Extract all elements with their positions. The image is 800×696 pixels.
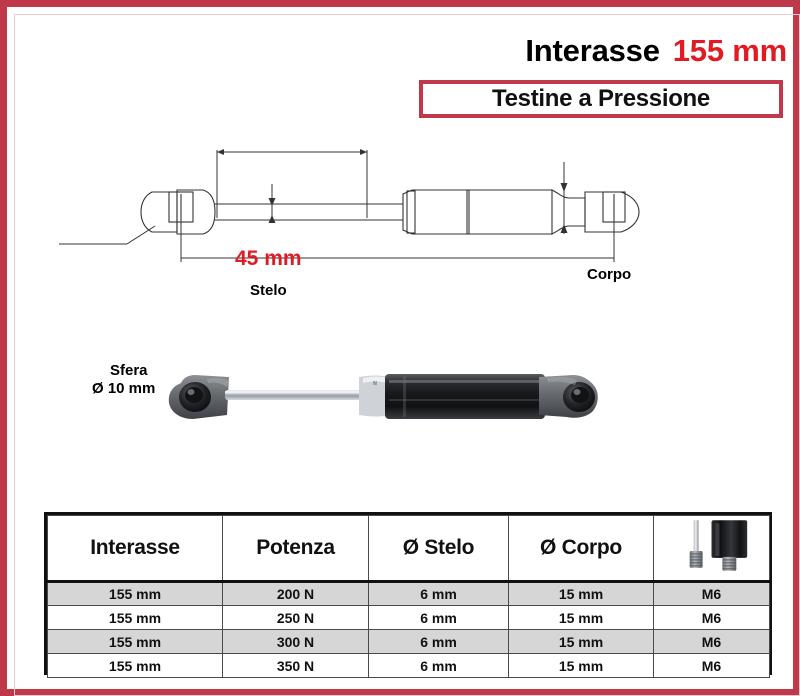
cell-diametro-corpo: 15 mm: [509, 630, 654, 654]
page-title-label: Interasse: [525, 33, 659, 69]
cell-filetto: M6: [654, 606, 770, 630]
column-header-thread-icon: [654, 516, 770, 582]
part-label-stelo: Stelo: [250, 282, 287, 299]
cell-interasse: 155 mm: [48, 582, 223, 606]
part-label-corpo: Corpo: [587, 266, 631, 283]
product-photo: N: [167, 347, 637, 442]
thread-fitting-icon: [654, 518, 769, 578]
technical-drawing: 45 mm 155 mm Stelo Corpo Sfera Ø 10 mm: [7, 122, 800, 302]
table-header-row: Interasse Potenza Ø Stelo Ø Corpo: [48, 516, 770, 582]
subtitle-text: Testine a Pressione: [492, 85, 710, 113]
specification-table: Interasse Potenza Ø Stelo Ø Corpo: [44, 512, 772, 675]
table-row: 155 mm 350 N 6 mm 15 mm M6: [48, 654, 770, 678]
part-label-sfera-diameter: Ø 10 mm: [92, 380, 155, 397]
column-header-interasse: Interasse: [48, 516, 223, 582]
cell-diametro-stelo: 6 mm: [369, 582, 509, 606]
table-body: 155 mm 200 N 6 mm 15 mm M6 155 mm 250 N …: [48, 582, 770, 678]
cell-interasse: 155 mm: [48, 606, 223, 630]
svg-text:N: N: [373, 381, 377, 387]
cell-filetto: M6: [654, 630, 770, 654]
cell-diametro-corpo: 15 mm: [509, 654, 654, 678]
cell-interasse: 155 mm: [48, 654, 223, 678]
cell-potenza: 200 N: [223, 582, 369, 606]
column-header-diametro-corpo: Ø Corpo: [509, 516, 654, 582]
cell-diametro-corpo: 15 mm: [509, 606, 654, 630]
cell-filetto: M6: [654, 654, 770, 678]
subtitle-box: Testine a Pressione: [419, 80, 783, 118]
dimension-label-45mm: 45 mm: [235, 247, 302, 271]
part-label-sfera: Sfera: [110, 362, 148, 379]
page-title: Interasse 155 mm: [412, 29, 787, 73]
cell-filetto: M6: [654, 582, 770, 606]
column-header-diametro-stelo: Ø Stelo: [369, 516, 509, 582]
column-header-potenza: Potenza: [223, 516, 369, 582]
cell-potenza: 350 N: [223, 654, 369, 678]
table-row: 155 mm 250 N 6 mm 15 mm M6: [48, 606, 770, 630]
cell-diametro-corpo: 15 mm: [509, 582, 654, 606]
cell-diametro-stelo: 6 mm: [369, 654, 509, 678]
cell-diametro-stelo: 6 mm: [369, 606, 509, 630]
cell-interasse: 155 mm: [48, 630, 223, 654]
table-row: 155 mm 200 N 6 mm 15 mm M6: [48, 582, 770, 606]
page-title-value: 155 mm: [673, 33, 787, 69]
cell-potenza: 250 N: [223, 606, 369, 630]
cell-potenza: 300 N: [223, 630, 369, 654]
page-frame: Interasse 155 mm Testine a Pressione: [0, 0, 800, 696]
table-row: 155 mm 300 N 6 mm 15 mm M6: [48, 630, 770, 654]
cell-diametro-stelo: 6 mm: [369, 630, 509, 654]
